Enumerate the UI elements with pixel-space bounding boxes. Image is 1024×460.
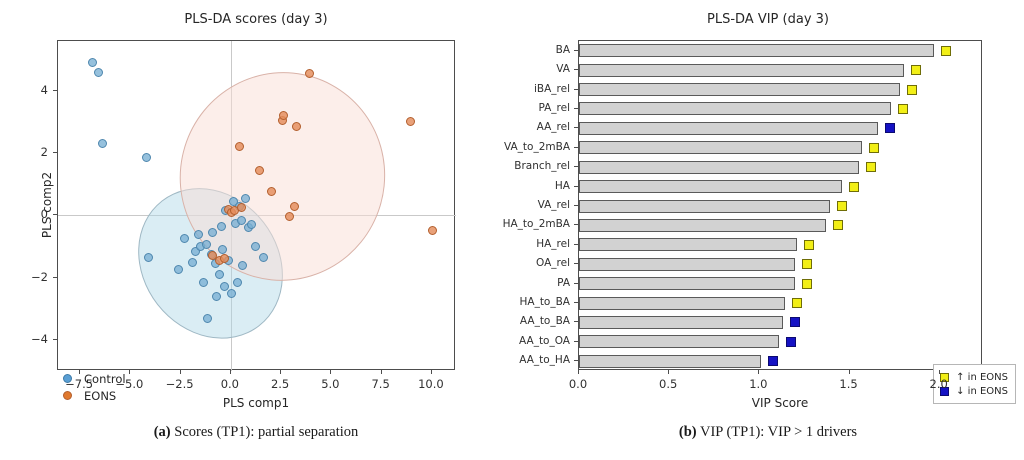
- scores-plot-area: [57, 40, 455, 370]
- vip-category-label: AA_to_HA: [519, 354, 570, 366]
- vip-direction-marker-up: [911, 65, 921, 75]
- x-tick-mark: [230, 370, 231, 374]
- y-tick-mark: [574, 283, 578, 284]
- vip-direction-marker-down: [786, 337, 796, 347]
- x-tick-label: 5.0: [321, 377, 339, 391]
- x-tick-label: 0.0: [569, 377, 587, 391]
- caption-b: (b) VIP (TP1): VIP > 1 drivers: [512, 424, 1024, 441]
- caption-a: (a) Scores (TP1): partial separation: [0, 424, 512, 441]
- x-tick-mark: [939, 370, 940, 374]
- vip-direction-marker-down: [790, 317, 800, 327]
- scatter-point-control: [203, 314, 212, 323]
- vip-category-label: AA_to_OA: [519, 335, 570, 347]
- vip-bar: [579, 102, 891, 115]
- vip-category-label: AA_to_BA: [520, 315, 570, 327]
- vip-direction-marker-up: [837, 201, 847, 211]
- x-tick-label: 10.0: [418, 377, 444, 391]
- y-tick-mark: [574, 341, 578, 342]
- vip-direction-marker-down: [768, 356, 778, 366]
- y-tick-mark: [574, 302, 578, 303]
- x-axis-title: VIP Score: [752, 396, 808, 410]
- vip-direction-marker-up: [792, 298, 802, 308]
- vip-bar: [579, 83, 900, 96]
- vip-bar: [579, 277, 795, 290]
- vip-bar: [579, 219, 826, 232]
- y-tick-mark: [574, 147, 578, 148]
- vip-direction-marker-up: [898, 104, 908, 114]
- scatter-point-eons: [292, 122, 301, 131]
- y-tick-mark: [53, 277, 57, 278]
- x-tick-label: −5.0: [115, 377, 143, 391]
- vip-bar: [579, 238, 797, 251]
- y-tick-mark: [574, 263, 578, 264]
- y-tick-label: −2: [31, 270, 48, 284]
- y-tick-label: 4: [41, 83, 48, 97]
- x-tick-mark: [758, 370, 759, 374]
- scatter-point-control: [142, 153, 151, 162]
- vip-direction-marker-up: [907, 85, 917, 95]
- caption-b-text: VIP (TP1): VIP > 1 drivers: [697, 424, 857, 440]
- x-tick-mark: [79, 370, 80, 374]
- x-tick-label: 0.5: [659, 377, 677, 391]
- caption-a-marker: (a): [154, 424, 171, 440]
- vip-category-label: HA_rel: [536, 238, 570, 250]
- vip-plot-area: [578, 40, 982, 370]
- x-tick-label: 7.5: [371, 377, 389, 391]
- scatter-point-control: [144, 253, 153, 262]
- x-tick-label: −7.5: [65, 377, 93, 391]
- scatter-point-eons: [290, 202, 299, 211]
- legend-label-up: ↑ in EONS: [956, 372, 1008, 383]
- scatter-point-control: [88, 58, 97, 67]
- y-tick-mark: [574, 50, 578, 51]
- vip-category-label: VA_to_2mBA: [504, 141, 570, 153]
- x-tick-mark: [129, 370, 130, 374]
- vip-category-label: HA_to_BA: [519, 296, 570, 308]
- x-tick-label: 1.5: [839, 377, 857, 391]
- panel-scores: PLS-DA scores (day 3) Control EONS −7.5−…: [0, 0, 512, 412]
- vip-direction-marker-up: [802, 259, 812, 269]
- vip-direction-marker-up: [866, 162, 876, 172]
- x-tick-mark: [381, 370, 382, 374]
- vip-category-label: HA: [555, 180, 570, 192]
- vip-bar: [579, 44, 934, 57]
- x-tick-mark: [668, 370, 669, 374]
- y-tick-mark: [53, 90, 57, 91]
- vip-bar: [579, 335, 779, 348]
- vip-bar: [579, 180, 842, 193]
- vip-direction-marker-down: [885, 123, 895, 133]
- x-tick-label: −2.5: [166, 377, 194, 391]
- legend-label-down: ↓ in EONS: [956, 386, 1008, 397]
- caption-b-marker: (b): [679, 424, 697, 440]
- x-tick-label: 2.5: [271, 377, 289, 391]
- x-tick-mark: [280, 370, 281, 374]
- x-tick-mark: [330, 370, 331, 374]
- vip-direction-marker-up: [833, 220, 843, 230]
- scatter-point-control: [194, 230, 203, 239]
- vip-category-label: OA_rel: [536, 257, 570, 269]
- y-tick-mark: [574, 244, 578, 245]
- scatter-point-control: [227, 289, 236, 298]
- y-tick-mark: [574, 205, 578, 206]
- x-tick-label: 0.0: [221, 377, 239, 391]
- panel-vip: PLS-DA VIP (day 3) ↑ in EONS ↓ in EONS B…: [512, 0, 1024, 412]
- vip-bar: [579, 316, 783, 329]
- y-tick-mark: [574, 89, 578, 90]
- figure-container: PLS-DA scores (day 3) Control EONS −7.5−…: [0, 0, 1024, 460]
- scatter-point-control: [259, 253, 268, 262]
- y-tick-label: 2: [41, 145, 48, 159]
- scatter-point-control: [199, 278, 208, 287]
- scatter-point-control: [94, 68, 103, 77]
- x-tick-label: 2.0: [930, 377, 948, 391]
- y-tick-mark: [574, 360, 578, 361]
- y-tick-mark: [574, 321, 578, 322]
- vip-bar: [579, 122, 878, 135]
- vip-category-label: AA_rel: [537, 121, 570, 133]
- eons-marker-icon: [63, 391, 72, 400]
- scatter-point-eons: [305, 69, 314, 78]
- y-axis-title: PLS comp2: [40, 172, 54, 238]
- y-tick-mark: [574, 166, 578, 167]
- vip-bar: [579, 161, 859, 174]
- vip-direction-marker-up: [804, 240, 814, 250]
- x-axis-title: PLS comp1: [223, 396, 289, 410]
- y-tick-mark: [574, 186, 578, 187]
- vip-direction-marker-up: [802, 279, 812, 289]
- vip-bar: [579, 141, 862, 154]
- vip-category-label: VA: [556, 63, 570, 75]
- vip-category-label: HA_to_2mBA: [503, 218, 570, 230]
- vip-bar: [579, 200, 830, 213]
- x-tick-mark: [431, 370, 432, 374]
- y-tick-mark: [574, 108, 578, 109]
- vip-direction-marker-up: [849, 182, 859, 192]
- x-tick-mark: [180, 370, 181, 374]
- y-tick-label: −4: [31, 332, 48, 346]
- x-tick-mark: [578, 370, 579, 374]
- vip-direction-marker-up: [941, 46, 951, 56]
- vip-category-label: PA_rel: [538, 102, 570, 114]
- x-tick-label: 1.0: [749, 377, 767, 391]
- vip-bar: [579, 297, 785, 310]
- vip-bar: [579, 64, 904, 77]
- scatter-point-control: [98, 139, 107, 148]
- caption-a-text: Scores (TP1): partial separation: [171, 424, 359, 440]
- vip-category-label: BA: [556, 44, 570, 56]
- vip-direction-marker-up: [869, 143, 879, 153]
- x-tick-mark: [849, 370, 850, 374]
- vip-chart-title: PLS-DA VIP (day 3): [512, 12, 1024, 27]
- vip-bar: [579, 355, 761, 368]
- scatter-point-control: [217, 222, 226, 231]
- vip-bar: [579, 258, 795, 271]
- scatter-point-eons: [428, 226, 437, 235]
- scatter-point-eons: [406, 117, 415, 126]
- y-tick-mark: [574, 224, 578, 225]
- vip-category-label: VA_rel: [538, 199, 570, 211]
- scatter-point-eons: [255, 166, 264, 175]
- legend-item-up-in-eons: ↑ in EONS: [940, 370, 1008, 384]
- y-tick-mark: [53, 152, 57, 153]
- legend-item-down-in-eons: ↓ in EONS: [940, 384, 1008, 398]
- scatter-point-control: [188, 258, 197, 267]
- vip-category-label: iBA_rel: [534, 83, 570, 95]
- y-tick-mark: [53, 339, 57, 340]
- vip-category-label: Branch_rel: [514, 160, 570, 172]
- vip-category-label: PA: [557, 277, 570, 289]
- scatter-point-eons: [279, 111, 288, 120]
- y-tick-mark: [574, 69, 578, 70]
- scores-chart-title: PLS-DA scores (day 3): [0, 12, 512, 27]
- y-tick-mark: [574, 127, 578, 128]
